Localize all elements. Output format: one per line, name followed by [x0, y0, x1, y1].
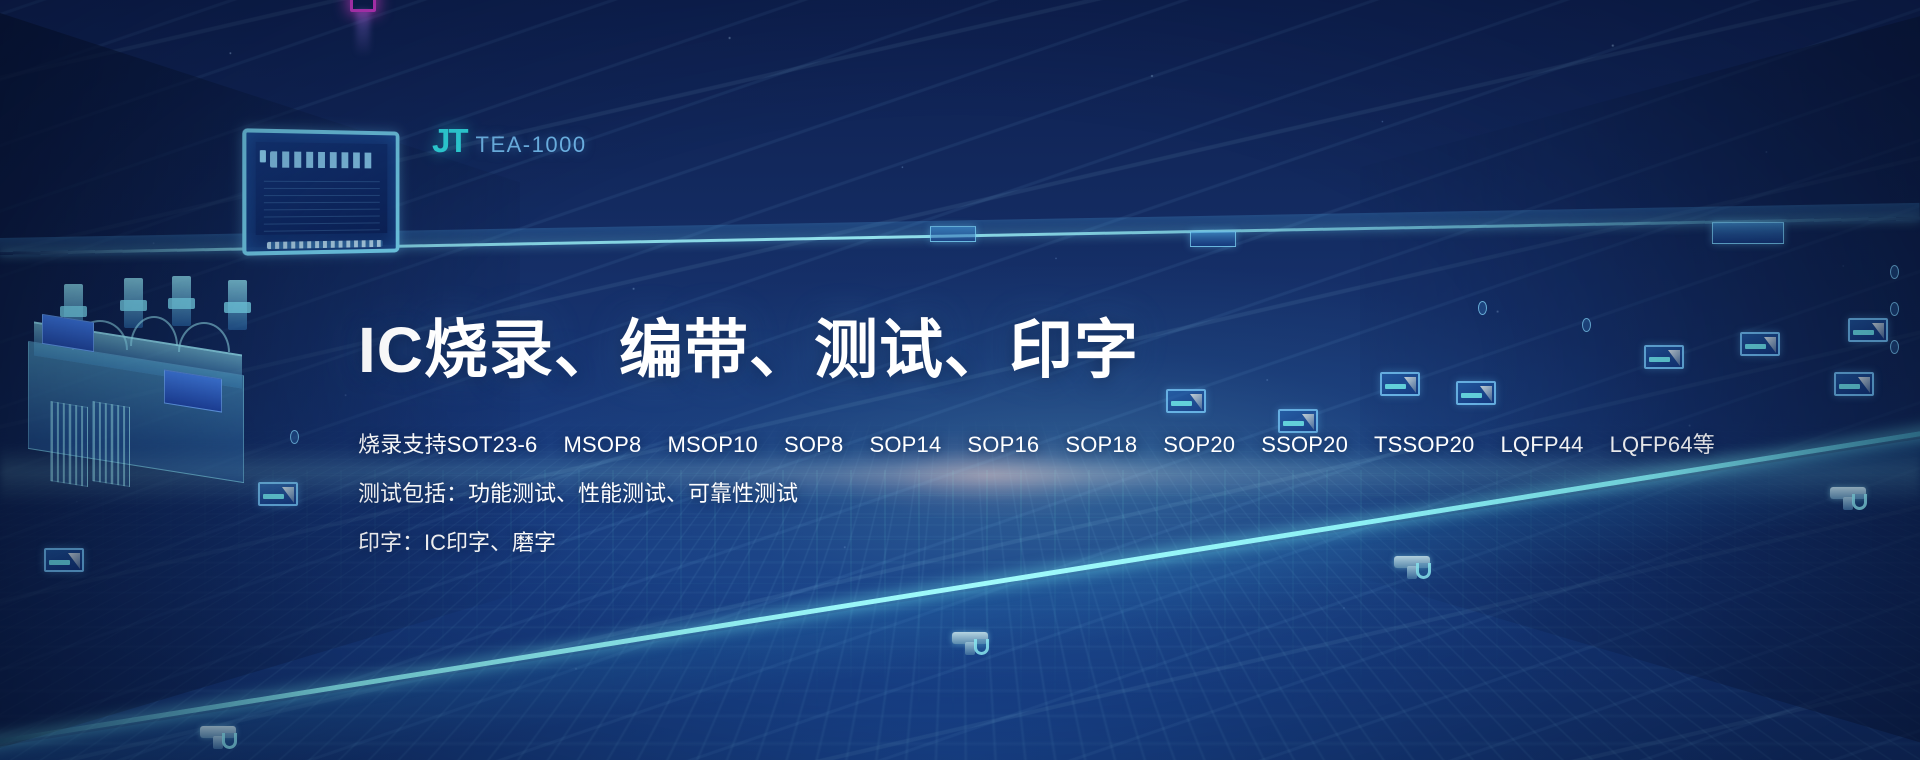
rail-carriage-icon	[1390, 556, 1434, 582]
package-sop14: SOP14	[869, 432, 941, 457]
pill-dot-icon	[1890, 302, 1899, 316]
pill-dot-icon	[1890, 340, 1899, 354]
package-sop16: SOP16	[967, 432, 1039, 457]
ceiling-box-icon	[1190, 231, 1236, 247]
package-sop20: SOP20	[1163, 432, 1235, 457]
ceiling-box-icon	[1712, 222, 1784, 244]
package-msop8: MSOP8	[563, 432, 641, 457]
page-title: IC烧录、编带、测试、印字	[358, 318, 1628, 382]
subtitle-marking: 印字：IC印字、磨字	[358, 532, 1628, 554]
package-tssop20: TSSOP20	[1374, 432, 1474, 457]
pill-dot-icon	[1478, 301, 1487, 315]
jt-logo: JT TEA-1000	[432, 122, 587, 160]
hero-banner: JT TEA-1000	[0, 0, 1920, 760]
subtitle-packages: 烧录支持SOT23-6MSOP8MSOP10SOP8SOP14SOP16SOP1…	[358, 434, 1628, 456]
package-lqfp44: LQFP44	[1500, 432, 1583, 457]
chip-tray-icon	[1834, 372, 1874, 396]
package-lqfp64: LQFP64等	[1610, 432, 1715, 457]
chip-tray-icon	[44, 548, 84, 572]
hero-text-block: IC烧录、编带、测试、印字 烧录支持SOT23-6MSOP8MSOP10SOP8…	[358, 318, 1628, 554]
rail-carriage-icon	[948, 632, 992, 658]
package-sop18: SOP18	[1065, 432, 1137, 457]
ceiling-box-icon	[930, 226, 976, 242]
chip-tray-icon	[1848, 318, 1888, 342]
packages-prefix: 烧录支持SOT23-6	[358, 432, 537, 457]
logo-mark: JT	[432, 122, 467, 160]
rail-carriage-icon	[1826, 487, 1870, 513]
marker-light-beam	[356, 10, 370, 56]
logo-model: TEA-1000	[476, 132, 587, 158]
monitor-icon	[243, 130, 403, 254]
package-ssop20: SSOP20	[1261, 432, 1348, 457]
subtitle-testing: 测试包括：功能测试、性能测试、可靠性测试	[358, 483, 1628, 505]
magenta-marker-icon	[350, 0, 376, 12]
chip-tray-icon	[1644, 345, 1684, 369]
pill-dot-icon	[290, 430, 299, 444]
pill-dot-icon	[1890, 265, 1899, 279]
rail-carriage-icon	[196, 726, 240, 752]
package-sop8: SOP8	[784, 432, 844, 457]
package-msop10: MSOP10	[668, 432, 758, 457]
chip-tray-icon	[1740, 332, 1780, 356]
